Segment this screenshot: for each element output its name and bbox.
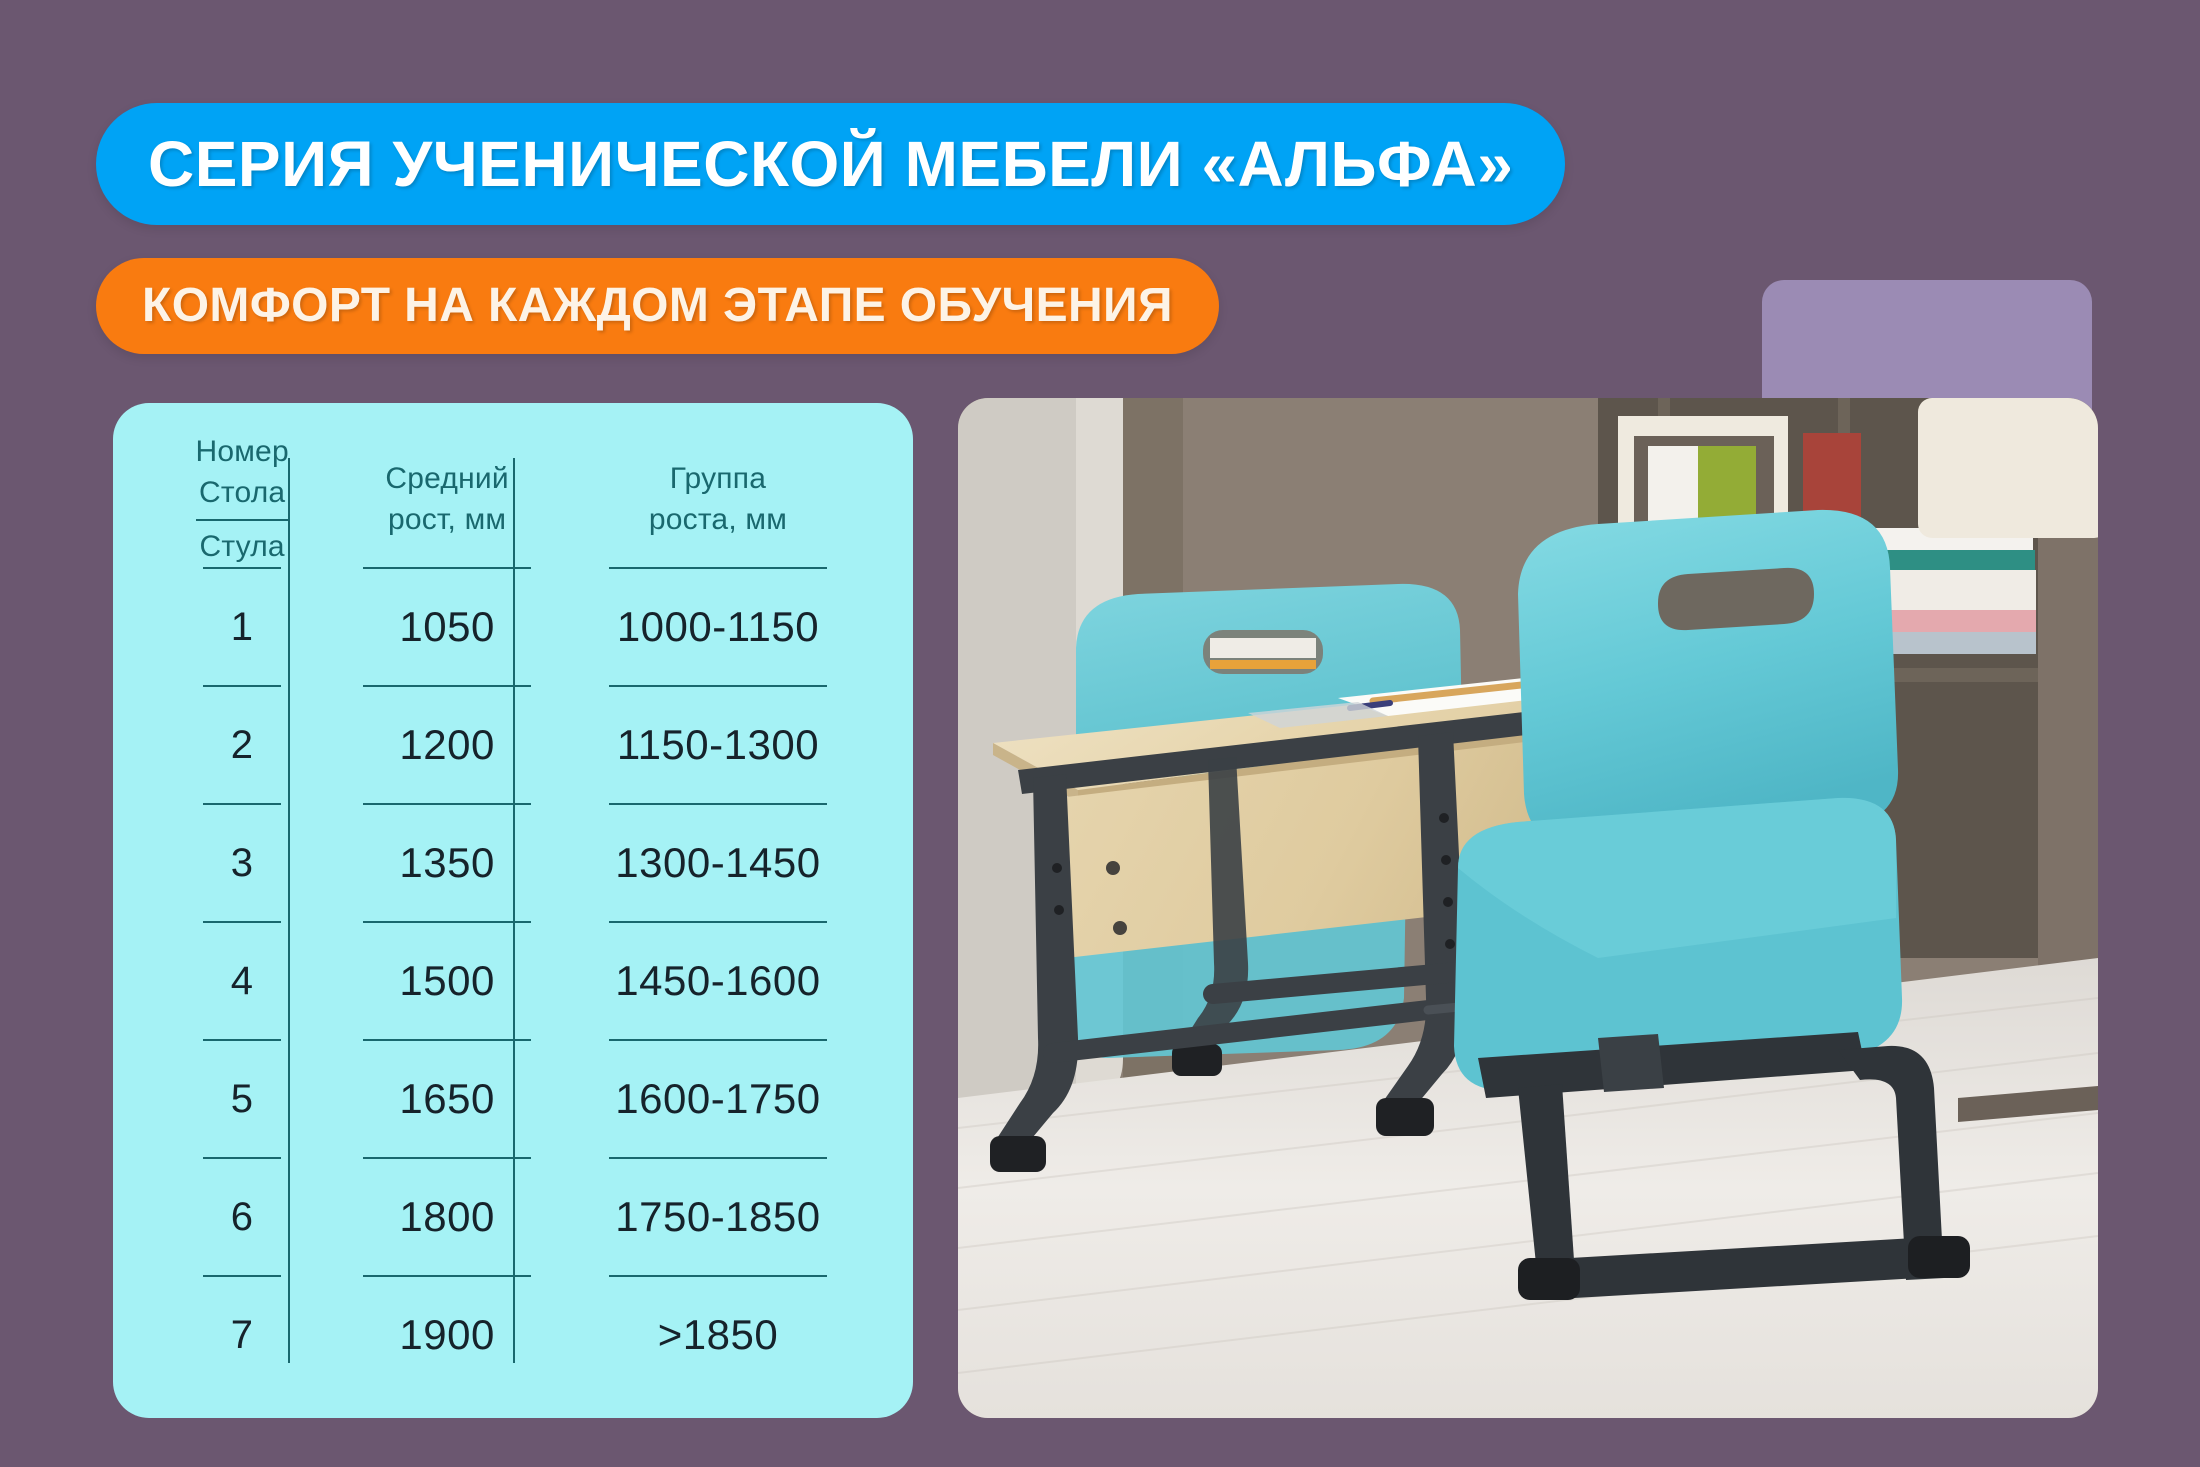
cell-height-group: 1600-1750 — [557, 1041, 879, 1157]
cell-height-group: 1750-1850 — [557, 1159, 879, 1275]
cell-number: 3 — [147, 805, 337, 921]
cell-number: 1 — [147, 569, 337, 685]
cell-average-height: 1350 — [337, 805, 557, 921]
cell-average-height: 1500 — [337, 923, 557, 1039]
column-header-number: Номер Стола Стула — [147, 431, 337, 567]
classroom-illustration — [958, 398, 2098, 1418]
cell-height-group: 1000-1150 — [557, 569, 879, 685]
size-table-card: Номер Стола Стула Средний рост, мм — [113, 403, 913, 1418]
page-subtitle: КОМФОРТ НА КАЖДОМ ЭТАПЕ ОБУЧЕНИЯ — [142, 282, 1173, 330]
column-divider-2 — [513, 458, 515, 1363]
whiteboard — [1918, 398, 2098, 538]
fraction-bar-icon — [196, 519, 288, 521]
cell-height-group: 1150-1300 — [557, 687, 879, 803]
cell-average-height: 1050 — [337, 569, 557, 685]
column-header-average-height: Средний рост, мм — [337, 431, 557, 567]
page-title: СЕРИЯ УЧЕНИЧЕСКОЙ МЕБЕЛИ «АЛЬФА» — [148, 132, 1513, 196]
chair-backrest — [1518, 510, 1898, 846]
cell-number: 2 — [147, 687, 337, 803]
title-pill: СЕРИЯ УЧЕНИЧЕСКОЙ МЕБЕЛИ «АЛЬФА» — [96, 103, 1565, 225]
cell-average-height: 1800 — [337, 1159, 557, 1275]
column-header-height-group: Группа роста, мм — [557, 431, 879, 567]
column-divider-1 — [288, 458, 290, 1363]
cell-average-height: 1200 — [337, 687, 557, 803]
classroom-photo — [958, 398, 2098, 1418]
cell-number: 7 — [147, 1277, 337, 1393]
cell-number: 5 — [147, 1041, 337, 1157]
cell-number: 4 — [147, 923, 337, 1039]
poster-root: СЕРИЯ УЧЕНИЧЕСКОЙ МЕБЕЛИ «АЛЬФА» КОМФОРТ… — [0, 0, 2200, 1467]
cell-number: 6 — [147, 1159, 337, 1275]
cell-height-group: 1300-1450 — [557, 805, 879, 921]
cell-average-height: 1650 — [337, 1041, 557, 1157]
cell-height-group: 1450-1600 — [557, 923, 879, 1039]
subtitle-pill: КОМФОРТ НА КАЖДОМ ЭТАПЕ ОБУЧЕНИЯ — [96, 258, 1219, 354]
cell-height-group: >1850 — [557, 1277, 879, 1393]
cell-average-height: 1900 — [337, 1277, 557, 1393]
